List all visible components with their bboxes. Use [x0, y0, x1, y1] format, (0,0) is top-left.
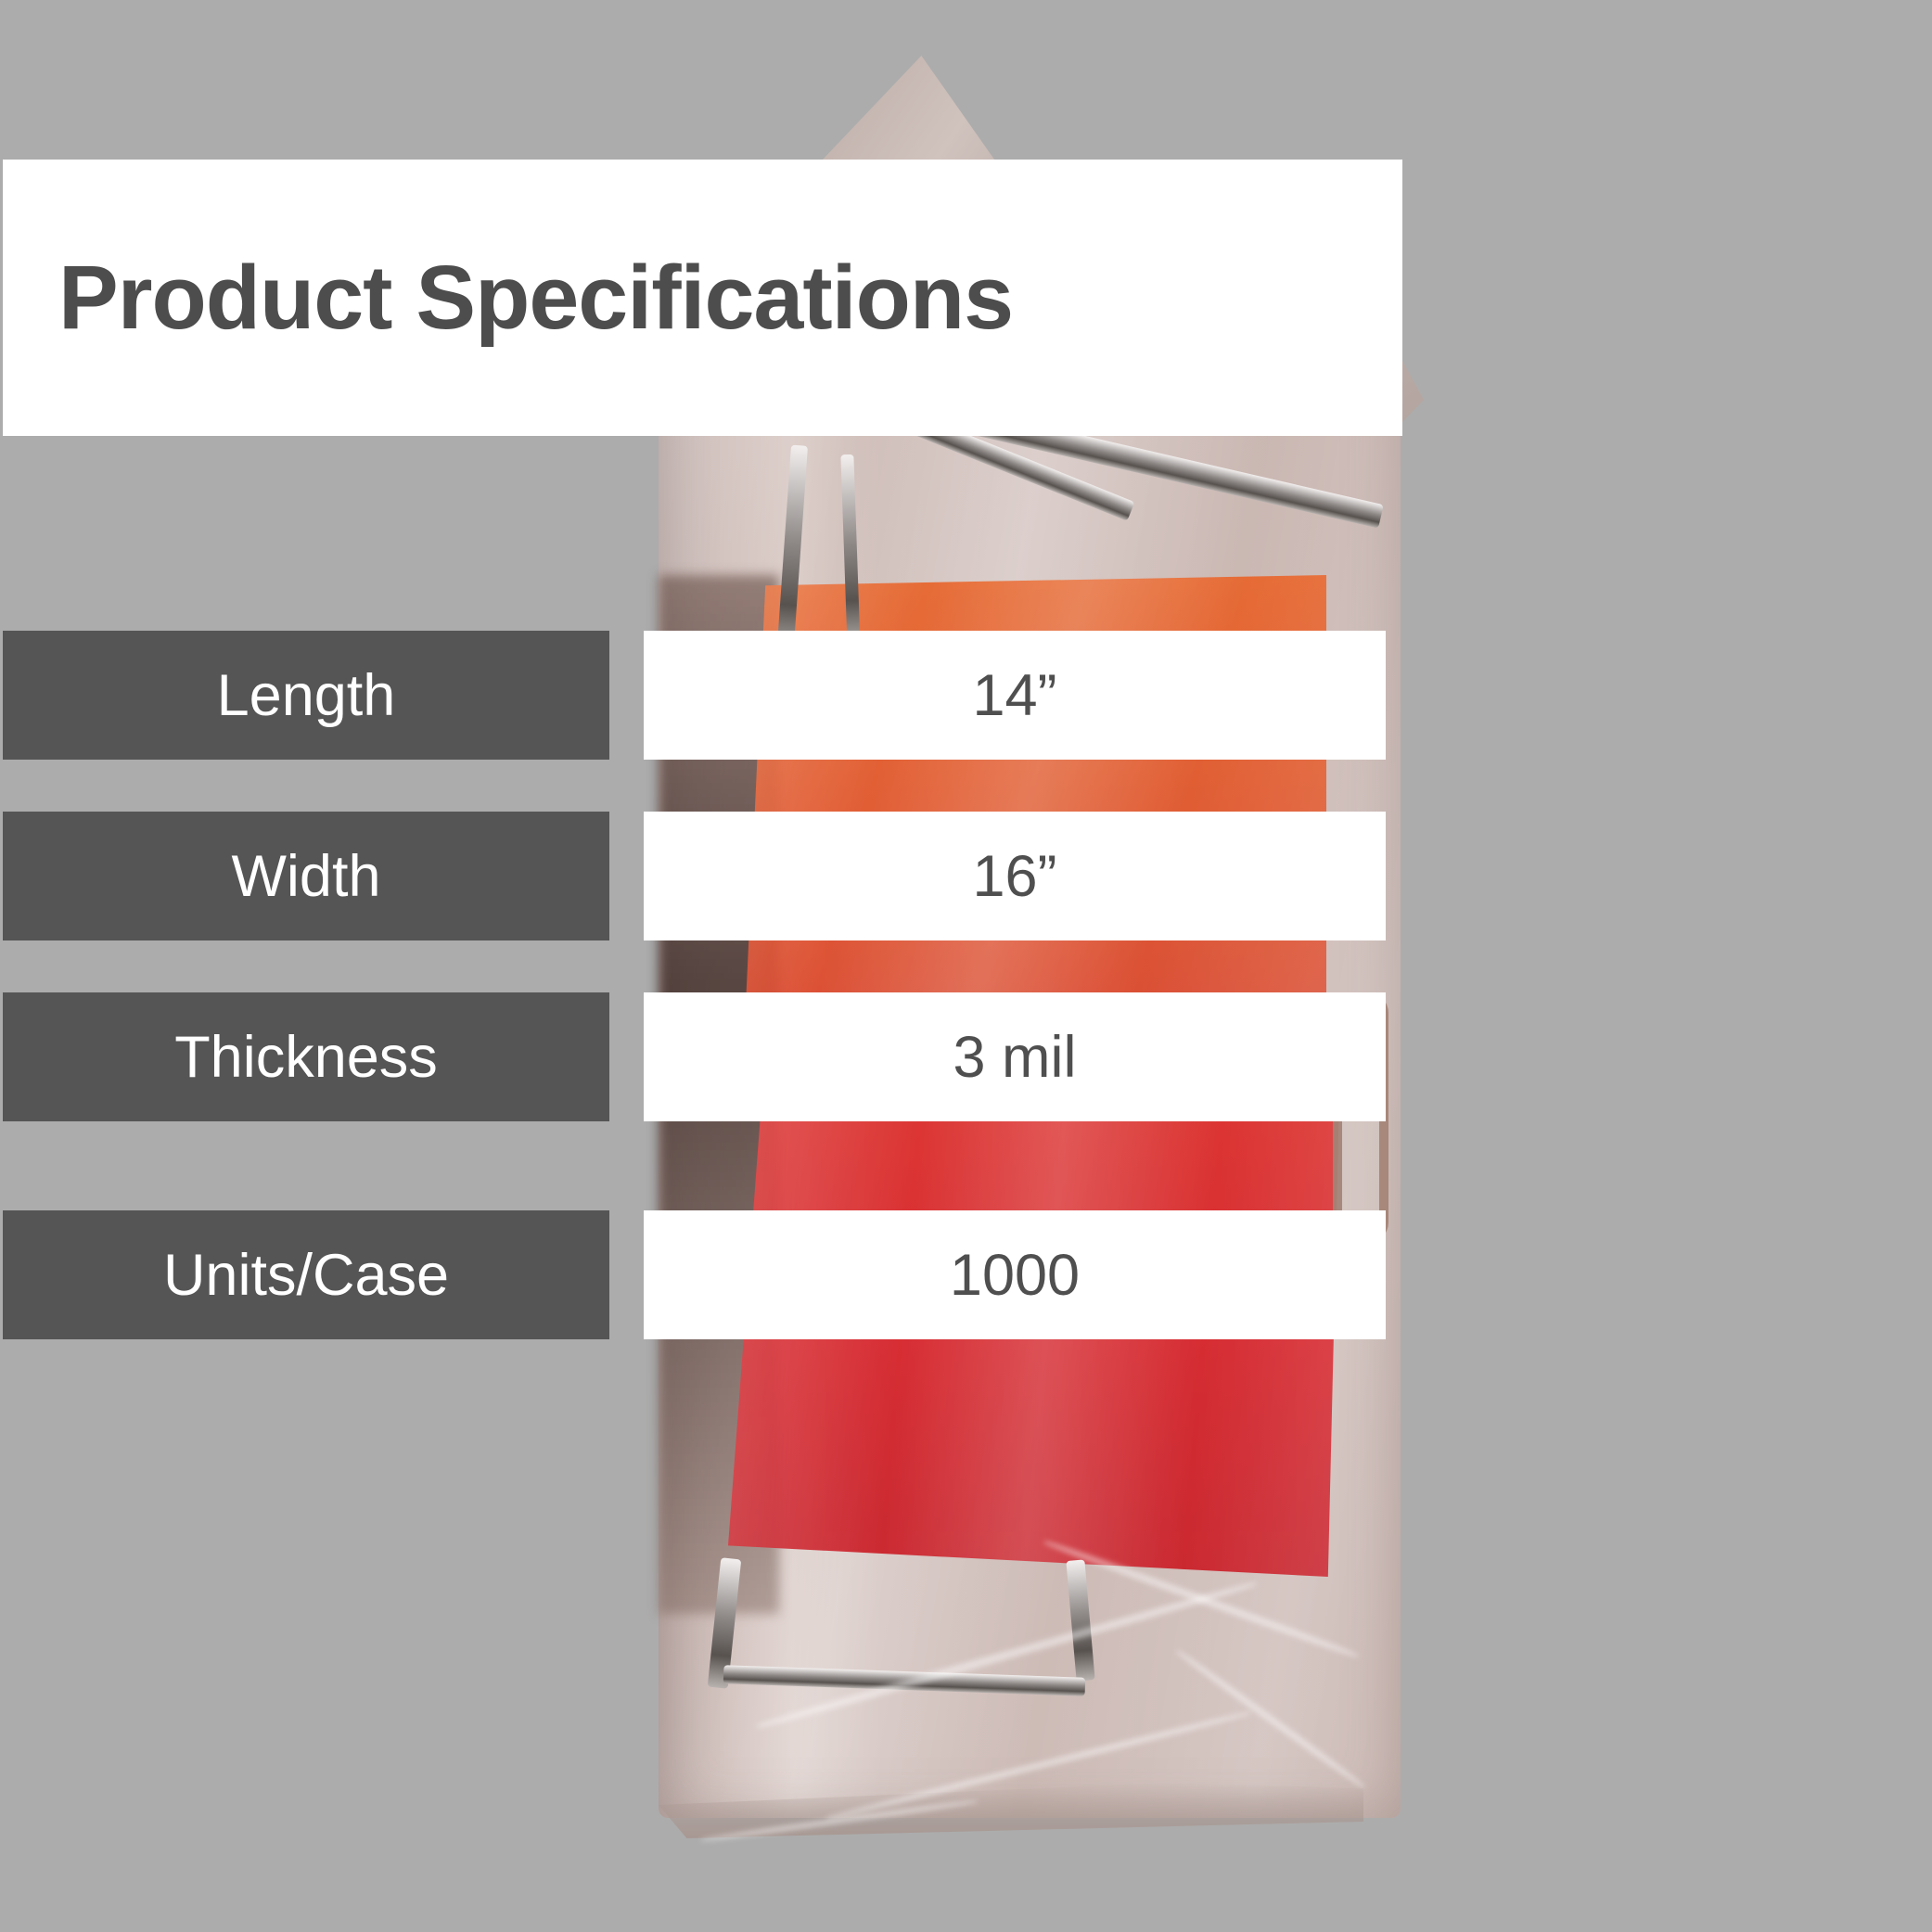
spec-label-text: Units/Case [163, 1242, 449, 1309]
spec-value-text: 16” [972, 843, 1056, 910]
product-specifications-graphic: Product Specifications Length 14” Width … [0, 0, 1932, 1932]
spec-label-thickness: Thickness [3, 992, 609, 1121]
spec-label-text: Length [217, 662, 396, 729]
spec-value-units-per-case: 1000 [644, 1210, 1386, 1339]
spec-label-text: Thickness [174, 1024, 438, 1091]
spec-value-width: 16” [644, 812, 1386, 940]
title-bar: Product Specifications [3, 160, 1402, 436]
spec-value-text: 3 mil [953, 1024, 1076, 1091]
spec-value-text: 14” [972, 662, 1056, 729]
page-title: Product Specifications [58, 246, 1013, 350]
spec-value-length: 14” [644, 631, 1386, 760]
spec-value-text: 1000 [950, 1242, 1080, 1309]
spec-value-thickness: 3 mil [644, 992, 1386, 1121]
spec-label-length: Length [3, 631, 609, 760]
spec-label-width: Width [3, 812, 609, 940]
spec-label-text: Width [231, 843, 380, 910]
spec-label-units-per-case: Units/Case [3, 1210, 609, 1339]
